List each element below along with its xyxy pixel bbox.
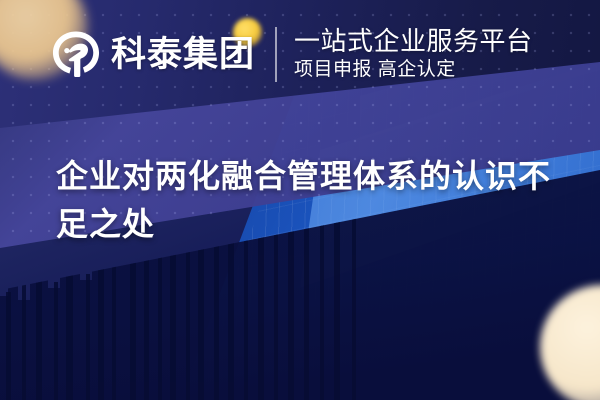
article-banner: 科泰集团 一站式企业服务平台 项目申报 高企认定 企业对两化融合管理体系的认识不… (0, 0, 600, 400)
ketai-circular-logo-icon (52, 30, 100, 78)
brand-name: 科泰集团 (111, 37, 255, 72)
page-title: 企业对两化融合管理体系的认识不足之处 (56, 152, 561, 248)
header-divider (275, 27, 277, 82)
banner-header: 科泰集团 一站式企业服务平台 项目申报 高企认定 (0, 0, 600, 108)
brand-logo-block[interactable]: 科泰集团 (52, 30, 255, 78)
tagline-block: 一站式企业服务平台 项目申报 高企认定 (294, 26, 533, 83)
tagline-sub: 项目申报 高企认定 (294, 58, 533, 83)
tagline-main: 一站式企业服务平台 (294, 26, 533, 56)
